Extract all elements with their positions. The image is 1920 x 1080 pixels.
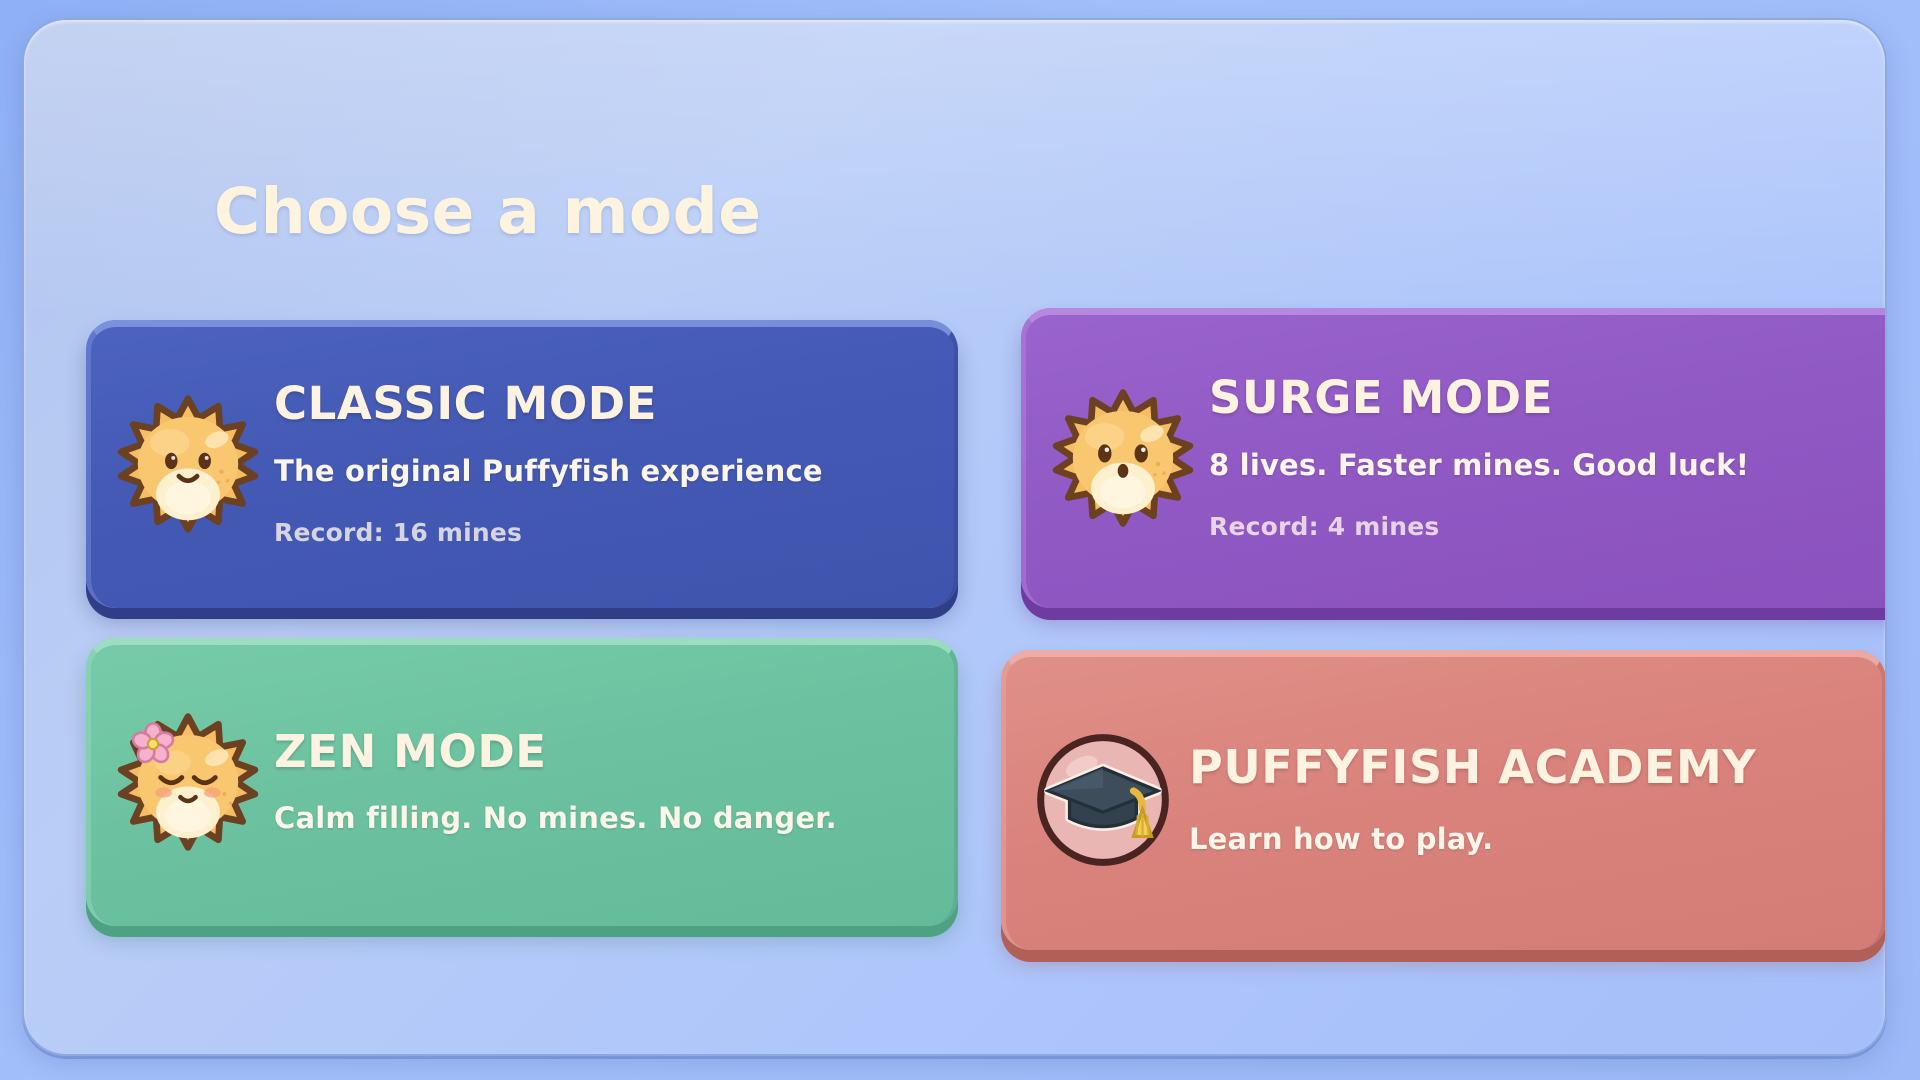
- card-description: Calm filling. No mines. No danger.: [274, 801, 932, 835]
- puffyfish-zen-icon: [112, 706, 264, 858]
- card-record: Record: 16 mines: [274, 518, 932, 547]
- card-title: PUFFYFISH ACADEMY: [1189, 744, 1860, 792]
- page-title: Choose a mode: [214, 175, 762, 248]
- puffyfish-happy-icon: [112, 388, 264, 540]
- card-description: Learn how to play.: [1189, 822, 1860, 856]
- card-title: SURGE MODE: [1209, 375, 1887, 422]
- card-description: The original Puffyfish experience: [274, 454, 932, 488]
- mode-card-surge[interactable]: SURGE MODE 8 lives. Faster mines. Good l…: [1021, 308, 1887, 608]
- mode-card-classic[interactable]: CLASSIC MODE The original Puffyfish expe…: [86, 320, 958, 608]
- puffyfish-surprised-icon: [1047, 382, 1199, 534]
- card-title: CLASSIC MODE: [274, 381, 932, 428]
- mode-card-grid: CLASSIC MODE The original Puffyfish expe…: [86, 320, 1886, 960]
- mode-card-academy[interactable]: PUFFYFISH ACADEMY Learn how to play.: [1001, 650, 1886, 950]
- panel-sheen: [24, 20, 1885, 320]
- card-text-block: SURGE MODE 8 lives. Faster mines. Good l…: [1209, 375, 1887, 541]
- card-title: ZEN MODE: [274, 729, 932, 776]
- mode-card-zen[interactable]: ZEN MODE Calm filling. No mines. No dang…: [86, 638, 958, 926]
- card-description: 8 lives. Faster mines. Good luck!: [1209, 448, 1887, 482]
- card-text-block: ZEN MODE Calm filling. No mines. No dang…: [274, 729, 958, 836]
- card-text-block: CLASSIC MODE The original Puffyfish expe…: [274, 381, 958, 547]
- graduation-cap-icon: [1027, 724, 1179, 876]
- card-text-block: PUFFYFISH ACADEMY Learn how to play.: [1189, 744, 1886, 856]
- mode-select-panel: Choose a mode: [22, 18, 1887, 1056]
- card-record: Record: 4 mines: [1209, 512, 1887, 541]
